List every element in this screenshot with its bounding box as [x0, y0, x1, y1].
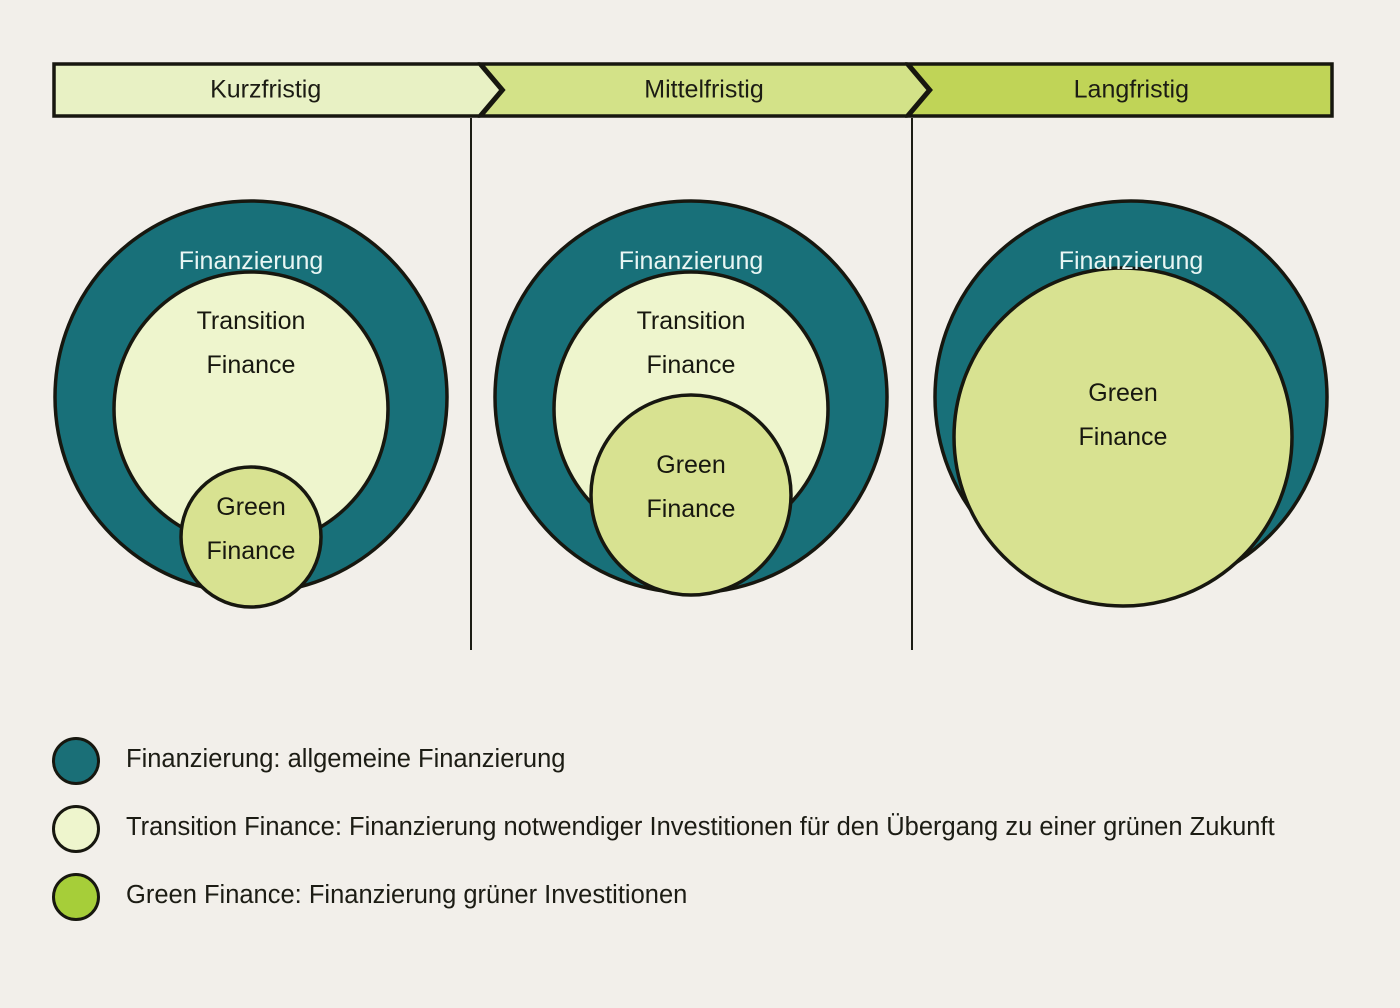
svg-text:Green: Green	[216, 493, 285, 521]
legend-label-transition-finance: Transition Finance: Finanzierung notwend…	[126, 803, 1275, 845]
legend-swatch-financing-circle-icon	[52, 737, 100, 785]
svg-text:Finanzierung: Finanzierung	[179, 247, 324, 275]
svg-text:Finance: Finance	[207, 537, 296, 565]
svg-text:Transition: Transition	[637, 307, 746, 335]
svg-text:Finance: Finance	[1079, 423, 1168, 451]
circle-group-1: FinanzierungTransitionFinanceGreenFinanc…	[55, 201, 447, 607]
legend-item-financing: Finanzierung: allgemeine Finanzierung	[52, 735, 1342, 785]
svg-text:Transition: Transition	[197, 307, 306, 335]
circle-group-2: FinanzierungTransitionFinanceGreenFinanc…	[495, 201, 887, 595]
label-financing-1: Finanzierung	[179, 247, 324, 275]
legend: Finanzierung: allgemeine Finanzierung Tr…	[52, 735, 1342, 939]
legend-swatch-green-finance-circle-icon	[52, 873, 100, 921]
diagram-figure: KurzfristigMittelfristigLangfristig Fina…	[0, 0, 1400, 1008]
svg-text:Finanzierung: Finanzierung	[1059, 247, 1204, 275]
circle-groups: FinanzierungTransitionFinanceGreenFinanc…	[0, 0, 1400, 680]
svg-text:Finance: Finance	[647, 495, 736, 523]
svg-text:Finanzierung: Finanzierung	[619, 247, 764, 275]
legend-label-green-finance: Green Finance: Finanzierung grüner Inves…	[126, 871, 687, 913]
circles-svg: FinanzierungTransitionFinanceGreenFinanc…	[0, 0, 1400, 680]
legend-item-transition-finance: Transition Finance: Finanzierung notwend…	[52, 803, 1342, 853]
svg-text:Green: Green	[656, 451, 725, 479]
svg-text:Green: Green	[1088, 379, 1157, 407]
legend-item-green-finance: Green Finance: Finanzierung grüner Inves…	[52, 871, 1342, 921]
label-financing-2: Finanzierung	[619, 247, 764, 275]
legend-swatch-transition-finance-circle-icon	[52, 805, 100, 853]
circle-group-3: FinanzierungGreenFinance	[935, 201, 1327, 606]
svg-text:Finance: Finance	[207, 351, 296, 379]
svg-text:Finance: Finance	[647, 351, 736, 379]
label-financing-3: Finanzierung	[1059, 247, 1204, 275]
legend-label-financing: Finanzierung: allgemeine Finanzierung	[126, 735, 565, 777]
